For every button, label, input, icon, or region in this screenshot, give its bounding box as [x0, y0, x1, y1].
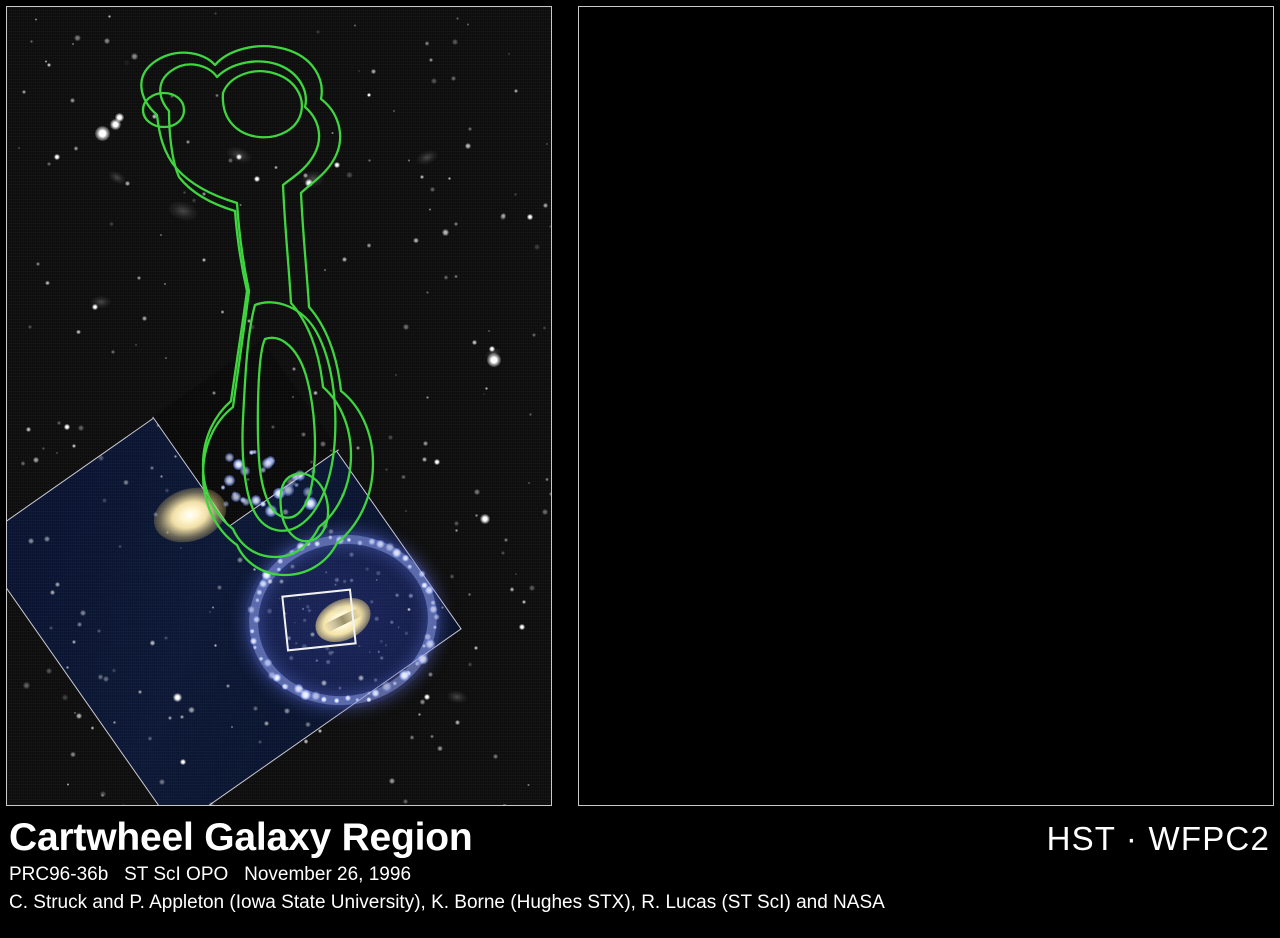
figure-root: Cartwheel Galaxy Region HST · WFPC2 PRC9…	[0, 0, 1280, 938]
page-title: Cartwheel Galaxy Region	[9, 816, 473, 860]
release-id-line: PRC96-36b ST ScI OPO November 26, 1996	[9, 864, 411, 886]
instrument-label: HST · WFPC2	[1047, 820, 1270, 858]
radio-contour-overlay	[7, 7, 551, 805]
contour-level-5	[258, 338, 315, 518]
panel-ground-based-contour-image	[6, 6, 552, 806]
contour-level-6	[143, 93, 184, 127]
false-colour-ring-image	[579, 7, 1273, 805]
credit-line: C. Struck and P. Appleton (Iowa State Un…	[9, 892, 885, 914]
left-panel-content	[7, 7, 551, 805]
contour-level-3	[223, 71, 302, 137]
contour-level-1	[141, 46, 373, 575]
right-panel-content	[579, 7, 1273, 805]
panel-wfpc2-false-colour-image	[578, 6, 1274, 806]
caption-block: Cartwheel Galaxy Region HST · WFPC2 PRC9…	[0, 806, 1280, 938]
false-colour-canvas	[579, 7, 1273, 805]
contour-level-4	[243, 302, 336, 530]
